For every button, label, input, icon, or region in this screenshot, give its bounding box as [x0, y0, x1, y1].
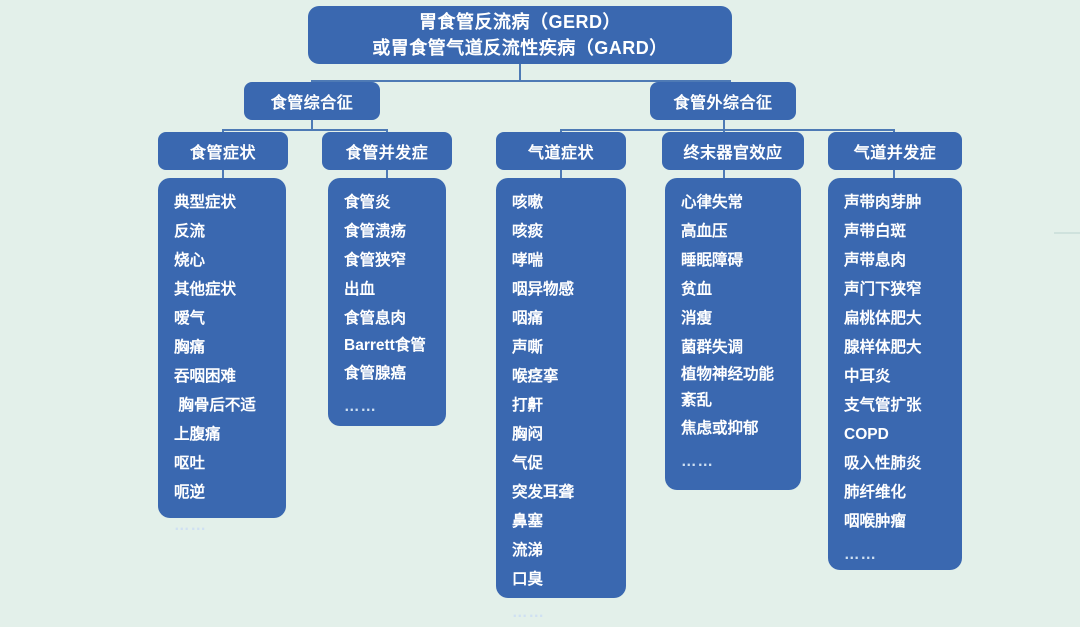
list-item: 腺样体肥大 — [844, 333, 962, 362]
list-item: 突发耳聋 — [512, 478, 626, 507]
root-line-2: 或胃食管气道反流性疾病（GARD） — [372, 35, 668, 61]
list-item: 哮喘 — [512, 246, 626, 275]
list-item: COPD — [844, 420, 962, 449]
list-item: 典型症状 — [174, 188, 286, 217]
list-item: 鼻塞 — [512, 507, 626, 536]
list-item: 声带白斑 — [844, 217, 962, 246]
list-item: Barrett食管 — [344, 333, 446, 359]
node-esophageal-symptoms[interactable]: 食管症状 — [158, 132, 288, 170]
list-item: 气促 — [512, 449, 626, 478]
edge-artifact — [1054, 232, 1080, 234]
list-item: 呃逆 — [174, 478, 286, 507]
list-item: 吸入性肺炎 — [844, 449, 962, 478]
list-item: 食管息肉 — [344, 304, 446, 333]
list-item: 嗳气 — [174, 304, 286, 333]
list-item: 声带息肉 — [844, 246, 962, 275]
list-item: 食管炎 — [344, 188, 446, 217]
node-extraesophageal-syndrome[interactable]: 食管外综合征 — [650, 82, 796, 120]
list-item: 出血 — [344, 275, 446, 304]
list-ellipsis: …… — [344, 388, 446, 421]
list-item: 食管腺癌 — [344, 359, 446, 388]
list-item: 食管狭窄 — [344, 246, 446, 275]
list-item: 打鼾 — [512, 391, 626, 420]
list-item: 喉痉挛 — [512, 362, 626, 391]
list-item: 消瘦 — [681, 304, 801, 333]
list-item: 睡眠障碍 — [681, 246, 801, 275]
list-item: 胸骨后不适 — [174, 391, 286, 420]
list-item: 声门下狭窄 — [844, 275, 962, 304]
list-item: 声嘶 — [512, 333, 626, 362]
root-line-1: 胃食管反流病（GERD） — [419, 9, 621, 35]
list-item: 烧心 — [174, 246, 286, 275]
list-item: 呕吐 — [174, 449, 286, 478]
list-ellipsis: …… — [681, 443, 801, 476]
node-esophageal-complications[interactable]: 食管并发症 — [322, 132, 452, 170]
list-item: 高血压 — [681, 217, 801, 246]
list-item: 咽痛 — [512, 304, 626, 333]
list-item: 咽喉肿瘤 — [844, 507, 962, 536]
list-item: 焦虑或抑郁 — [681, 414, 801, 443]
list-panel-esophageal-complications: 食管炎食管溃疡食管狭窄出血食管息肉Barrett食管食管腺癌…… — [328, 178, 446, 426]
list-item: 贫血 — [681, 275, 801, 304]
node-end-organ-effects[interactable]: 终末器官效应 — [662, 132, 804, 170]
list-item: 其他症状 — [174, 275, 286, 304]
list-item: 中耳炎 — [844, 362, 962, 391]
list-ellipsis: …… — [844, 536, 962, 569]
list-panel-airway-symptoms: 咳嗽咳痰哮喘咽异物感咽痛声嘶喉痉挛打鼾胸闷气促突发耳聋鼻塞流涕口臭…… — [496, 178, 626, 598]
connector-esoph-syndrome-bus — [222, 129, 388, 131]
list-item: 肺纤维化 — [844, 478, 962, 507]
connector-extra-syndrome-bus — [560, 129, 894, 131]
list-item: 流涕 — [512, 536, 626, 565]
list-item: 扁桃体肥大 — [844, 304, 962, 333]
list-item: 心律失常 — [681, 188, 801, 217]
diagram-canvas: 胃食管反流病（GERD） 或胃食管气道反流性疾病（GARD） 食管综合征 食管外… — [0, 0, 1080, 608]
list-panel-airway-complications: 声带肉芽肿声带白斑声带息肉声门下狭窄扁桃体肥大腺样体肥大中耳炎支气管扩张COPD… — [828, 178, 962, 570]
connector-root-stem — [519, 64, 521, 81]
list-item: 口臭 — [512, 565, 626, 594]
list-item: 食管溃疡 — [344, 217, 446, 246]
list-item: 吞咽困难 — [174, 362, 286, 391]
node-airway-symptoms[interactable]: 气道症状 — [496, 132, 626, 170]
list-item: 上腹痛 — [174, 420, 286, 449]
list-item: 胸闷 — [512, 420, 626, 449]
list-item: 反流 — [174, 217, 286, 246]
list-item: 菌群失调 — [681, 333, 801, 362]
list-ellipsis: …… — [174, 507, 286, 540]
list-ellipsis: …… — [512, 594, 626, 627]
list-item: 咽异物感 — [512, 275, 626, 304]
list-panel-esophageal-symptoms: 典型症状反流烧心其他症状嗳气胸痛吞咽困难 胸骨后不适上腹痛呕吐呃逆…… — [158, 178, 286, 518]
list-panel-end-organ-effects: 心律失常高血压睡眠障碍贫血消瘦菌群失调植物神经功能紊乱焦虑或抑郁…… — [665, 178, 801, 490]
list-item: 植物神经功能紊乱 — [681, 362, 801, 414]
list-item: 支气管扩张 — [844, 391, 962, 420]
root-node[interactable]: 胃食管反流病（GERD） 或胃食管气道反流性疾病（GARD） — [308, 6, 732, 64]
list-item: 声带肉芽肿 — [844, 188, 962, 217]
list-item: 咳嗽 — [512, 188, 626, 217]
list-item: 咳痰 — [512, 217, 626, 246]
node-airway-complications[interactable]: 气道并发症 — [828, 132, 962, 170]
node-esophageal-syndrome[interactable]: 食管综合征 — [244, 82, 380, 120]
list-item: 胸痛 — [174, 333, 286, 362]
